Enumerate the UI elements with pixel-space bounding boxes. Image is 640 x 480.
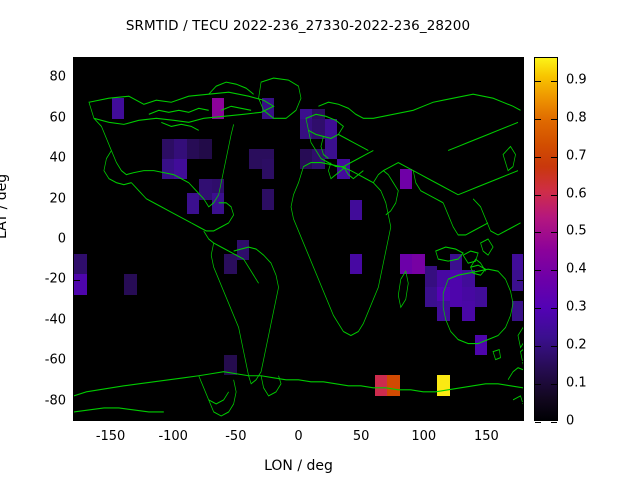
colorbar-tick-label: 0.1 [566, 376, 587, 391]
x-tick-label: -150 [76, 429, 146, 444]
colorbar-tick-label: 0 [566, 414, 574, 429]
colorbar-tick-mark-right [551, 346, 557, 347]
x-tick-mark-top [425, 58, 426, 64]
y-tick-mark [74, 321, 80, 322]
colorbar-tick-mark-right [551, 119, 557, 120]
y-tick-mark-right [517, 280, 523, 281]
y-tick-label: 40 [6, 151, 66, 166]
colorbar-tick-mark [535, 119, 541, 120]
colorbar-tick-mark-right [551, 232, 557, 233]
x-tick-mark [425, 414, 426, 420]
x-tick-mark [237, 414, 238, 420]
y-tick-mark [74, 402, 80, 403]
y-tick-mark-right [517, 402, 523, 403]
x-tick-mark [112, 414, 113, 420]
colorbar-tick-mark [535, 270, 541, 271]
y-tick-label: 60 [6, 110, 66, 125]
colorbar-tick-mark [535, 346, 541, 347]
colorbar-tick-mark [535, 81, 541, 82]
colorbar-tick-mark [535, 157, 541, 158]
y-tick-mark [74, 159, 80, 160]
x-tick-mark-top [362, 58, 363, 64]
y-tick-mark-right [517, 119, 523, 120]
colorbar-tick-mark [535, 232, 541, 233]
x-tick-mark-top [487, 58, 488, 64]
x-tick-label: -100 [138, 429, 208, 444]
x-tick-mark [362, 414, 363, 420]
x-tick-mark-top [237, 58, 238, 64]
y-tick-label: -60 [6, 353, 66, 368]
colorbar-tick-mark-right [551, 422, 557, 423]
y-tick-mark [74, 119, 80, 120]
colorbar-tick-mark-right [551, 384, 557, 385]
page-title: SRMTID / TECU 2022-236_27330-2022-236_28… [0, 18, 596, 34]
y-tick-mark [74, 200, 80, 201]
x-tick-mark [174, 414, 175, 420]
colorbar-tick-label: 0.8 [566, 110, 587, 125]
y-tick-label: 0 [6, 232, 66, 247]
colorbar-tick-mark [535, 195, 541, 196]
colorbar-tick-label: 0.7 [566, 148, 587, 163]
x-tick-mark [487, 414, 488, 420]
x-tick-mark-top [112, 58, 113, 64]
y-tick-label: -20 [6, 272, 66, 287]
colorbar-tick-mark [535, 308, 541, 309]
y-tick-mark-right [517, 361, 523, 362]
y-tick-mark-right [517, 240, 523, 241]
x-tick-label: -50 [201, 429, 271, 444]
colorbar-tick-mark-right [551, 308, 557, 309]
colorbar-tick-mark [535, 422, 541, 423]
x-tick-label: 0 [264, 429, 334, 444]
y-axis-label: LAT / deg [0, 174, 10, 239]
colorbar-tick-mark-right [551, 157, 557, 158]
colorbar-tick-mark [535, 384, 541, 385]
colorbar-tick-label: 0.2 [566, 338, 587, 353]
y-tick-mark-right [517, 78, 523, 79]
y-tick-label: 80 [6, 70, 66, 85]
y-tick-mark [74, 361, 80, 362]
y-tick-mark [74, 78, 80, 79]
y-tick-label: -80 [6, 393, 66, 408]
x-tick-mark-top [174, 58, 175, 64]
colorbar-tick-label: 0.6 [566, 186, 587, 201]
x-tick-label: 50 [326, 429, 396, 444]
y-tick-mark-right [517, 200, 523, 201]
y-tick-mark [74, 240, 80, 241]
x-tick-mark-top [300, 58, 301, 64]
x-tick-label: 100 [389, 429, 459, 444]
y-tick-mark [74, 280, 80, 281]
colorbar-tick-label: 0.3 [566, 300, 587, 315]
x-tick-mark [300, 414, 301, 420]
colorbar-tick-label: 0.4 [566, 262, 587, 277]
y-tick-mark-right [517, 321, 523, 322]
y-tick-mark-right [517, 159, 523, 160]
colorbar [534, 57, 558, 421]
coastline-layer [74, 58, 523, 420]
map-plot-area [73, 57, 524, 421]
colorbar-tick-label: 0.9 [566, 72, 587, 87]
x-axis-label: LON / deg [73, 458, 524, 474]
y-tick-label: -40 [6, 312, 66, 327]
colorbar-tick-mark-right [551, 81, 557, 82]
x-tick-label: 150 [451, 429, 521, 444]
colorbar-tick-label: 0.5 [566, 224, 587, 239]
tec-map-figure: SRMTID / TECU 2022-236_27330-2022-236_28… [0, 0, 640, 480]
colorbar-tick-mark-right [551, 195, 557, 196]
y-tick-label: 20 [6, 191, 66, 206]
colorbar-tick-mark-right [551, 270, 557, 271]
